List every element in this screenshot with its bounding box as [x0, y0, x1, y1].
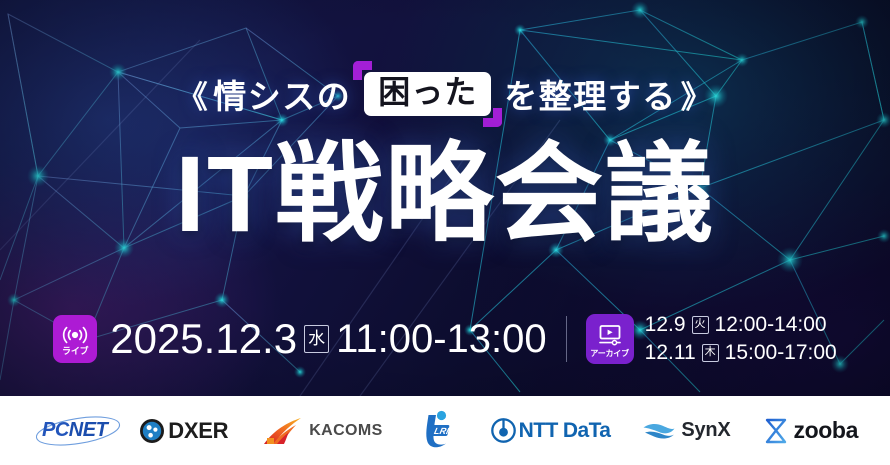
pcnet-wordmark: PCNET [42, 419, 107, 442]
sponsor-logo-lrm[interactable]: LRM [415, 409, 459, 453]
bracket-top-left-icon [353, 61, 372, 80]
live-date: 2025.12.3 [110, 318, 297, 360]
subtitle-close-guillemet: 》 [681, 72, 714, 117]
subtitle-after-text: を整理する [504, 70, 677, 118]
live-datetime: 2025.12.3 水 11:00-13:00 [110, 318, 546, 360]
archive-badge: アーカイブ [586, 314, 634, 364]
archive-session-row: 12.9 火 12:00-14:00 [645, 312, 837, 339]
schedule-row: ライブ 2025.12.3 水 11:00-13:00 [0, 306, 890, 372]
archive-date-2: 12.11 [645, 340, 696, 367]
lrm-mark-icon: LRM [415, 409, 459, 453]
event-banner: 《 情シスの 困った を整理する 》 IT戦略会議 [0, 0, 890, 465]
dxer-wordmark: DXER [168, 418, 228, 444]
sponsor-logo-bar: PCNET DXER [0, 396, 890, 465]
ntt-circle-icon [491, 418, 516, 443]
archive-session-row: 12.11 木 15:00-17:00 [645, 340, 837, 367]
page-title: IT戦略会議 [0, 137, 890, 251]
svg-text:LRM: LRM [433, 426, 455, 436]
kacoms-fan-icon [260, 416, 304, 446]
main-title-text: IT戦略会議 [175, 133, 715, 254]
schedule-divider [566, 316, 567, 362]
sponsor-logo-kacoms[interactable]: KACOMS [260, 416, 383, 446]
archive-session-group: アーカイブ 12.9 火 12:00-14:00 12.11 木 15:00-1… [586, 312, 837, 367]
archive-time-2: 15:00-17:00 [725, 340, 837, 367]
sponsor-logo-nttdata[interactable]: NTT DaTa [491, 418, 611, 443]
live-session-group: ライブ 2025.12.3 水 11:00-13:00 [53, 315, 546, 363]
live-badge: ライブ [53, 315, 97, 363]
archive-session-list: 12.9 火 12:00-14:00 12.11 木 15:00-17:00 [645, 312, 837, 367]
sponsor-logo-dxer[interactable]: DXER [139, 418, 228, 444]
kacoms-wordmark: KACOMS [309, 422, 383, 440]
archive-badge-caption: アーカイブ [590, 350, 629, 358]
synx-wordmark: SynX [681, 419, 730, 442]
highlight-plate: 困った [364, 72, 491, 116]
subtitle-before-text: 情シスの [213, 70, 351, 118]
live-weekday: 水 [304, 325, 329, 353]
hero-section: 《 情シスの 困った を整理する 》 IT戦略会議 [0, 0, 890, 396]
archive-time-1: 12:00-14:00 [715, 312, 827, 339]
sponsor-logo-synx[interactable]: SynX [642, 419, 730, 442]
zooba-hourglass-icon [763, 417, 789, 445]
archive-weekday-2: 木 [702, 344, 719, 362]
synx-wave-icon [642, 420, 676, 442]
nttdata-wordmark: NTT DaTa [519, 419, 611, 443]
live-badge-caption: ライブ [62, 347, 88, 356]
sponsor-logo-zooba[interactable]: zooba [763, 417, 858, 445]
live-time: 11:00-13:00 [336, 319, 547, 359]
archive-date-1: 12.9 [645, 312, 686, 339]
subtitle-line: 《 情シスの 困った を整理する 》 [0, 70, 890, 118]
broadcast-icon [62, 325, 88, 345]
subtitle-highlight-text: 困った [378, 74, 477, 110]
zooba-wordmark: zooba [794, 417, 858, 444]
archive-weekday-1: 火 [692, 316, 709, 334]
dxer-circle-icon [139, 418, 165, 444]
video-playback-icon [596, 324, 624, 348]
subtitle-open-guillemet: 《 [177, 72, 210, 117]
subtitle-highlight-box: 困った [364, 72, 491, 116]
bracket-bottom-right-icon [483, 108, 502, 127]
sponsor-logo-pcnet[interactable]: PCNET [32, 413, 107, 449]
